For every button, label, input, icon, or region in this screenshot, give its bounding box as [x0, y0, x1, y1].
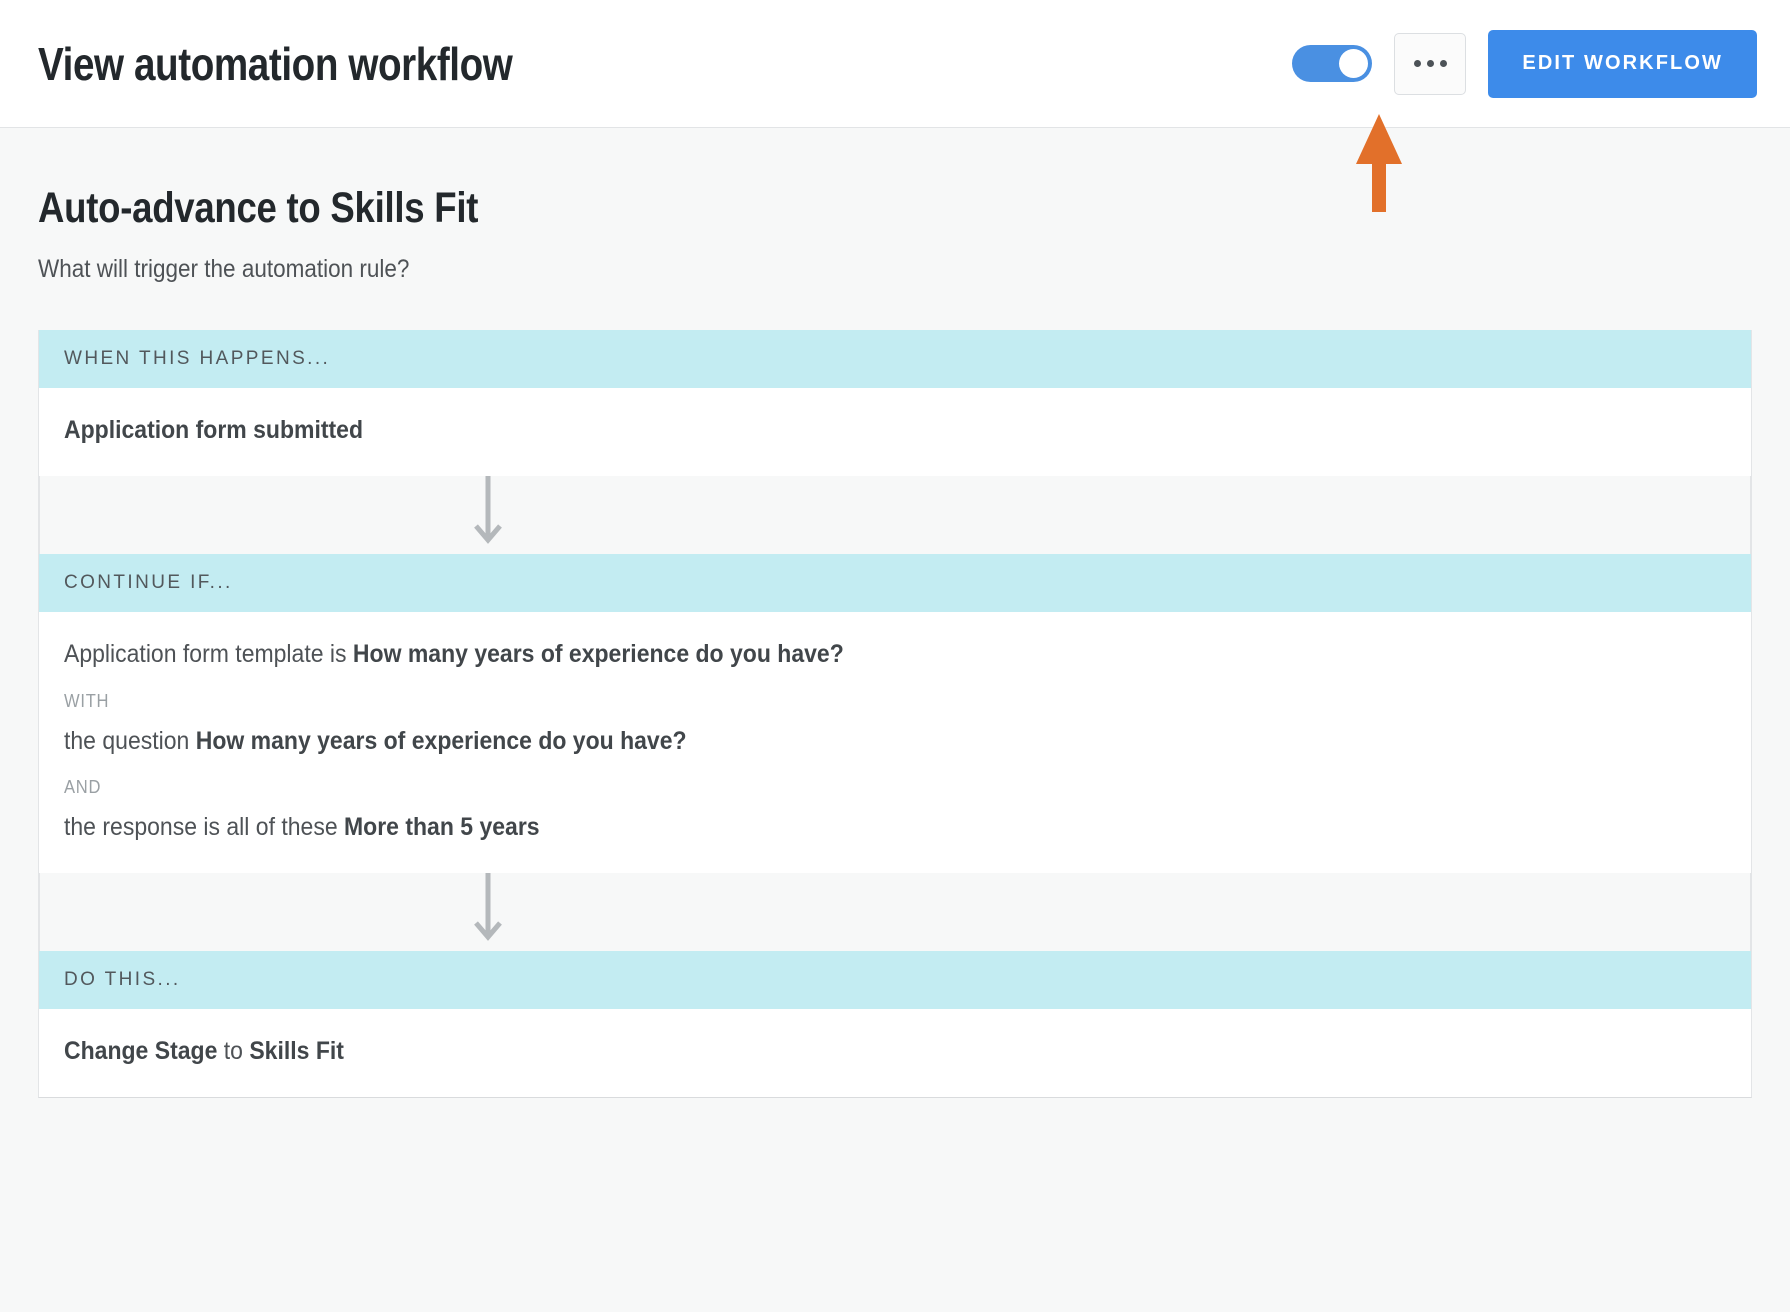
more-options-button[interactable]: [1394, 33, 1466, 95]
main-content: Auto-advance to Skills Fit What will tri…: [0, 128, 1790, 1098]
condition-row-question: the question How many years of experienc…: [64, 726, 1593, 757]
ellipsis-dot-icon: [1427, 60, 1434, 67]
section-body-continue: Application form template is How many ye…: [39, 612, 1751, 873]
condition-row-template: Application form template is How many ye…: [64, 639, 1593, 670]
flow-connector: [39, 873, 1751, 951]
condition-row-response: the response is all of these More than 5…: [64, 812, 1593, 843]
section-band-continue: CONTINUE IF...: [39, 554, 1751, 612]
action-row: Change Stage to Skills Fit: [64, 1036, 1593, 1067]
section-band-label: CONTINUE IF...: [64, 572, 233, 594]
section-band-do: DO THIS...: [39, 951, 1751, 1009]
condition-prefix: the question: [64, 727, 196, 755]
conjunction-with: WITH: [64, 691, 1593, 712]
section-body-when: Application form submitted: [39, 388, 1751, 476]
action-name: Change Stage: [64, 1037, 217, 1065]
flow-connector: [39, 476, 1751, 554]
arrow-down-icon: [473, 873, 503, 945]
condition-prefix: the response is all of these: [64, 813, 344, 841]
condition-value: How many years of experience do you have…: [353, 640, 844, 668]
workflow-card: WHEN THIS HAPPENS... Application form su…: [38, 330, 1752, 1098]
section-body-do: Change Stage to Skills Fit: [39, 1009, 1751, 1097]
condition-prefix: Application form template is: [64, 640, 353, 668]
condition-value: How many years of experience do you have…: [196, 727, 687, 755]
top-bar-actions: EDIT WORKFLOW: [1292, 30, 1757, 98]
edit-workflow-button[interactable]: EDIT WORKFLOW: [1488, 30, 1757, 98]
page-title: View automation workflow: [38, 37, 1092, 91]
trigger-row: Application form submitted: [64, 415, 1593, 446]
ellipsis-dot-icon: [1440, 60, 1447, 67]
rule-subtitle: What will trigger the automation rule?: [38, 255, 1581, 284]
workflow-enabled-toggle[interactable]: [1292, 45, 1372, 82]
toggle-knob: [1339, 49, 1368, 78]
action-joiner: to: [217, 1037, 249, 1065]
condition-value: More than 5 years: [344, 813, 540, 841]
ellipsis-dot-icon: [1414, 60, 1421, 67]
top-bar: View automation workflow EDIT WORKFLOW: [0, 0, 1790, 128]
section-band-label: DO THIS...: [64, 969, 181, 991]
rule-title: Auto-advance to Skills Fit: [38, 184, 1495, 233]
action-target: Skills Fit: [249, 1037, 344, 1065]
arrow-down-icon: [473, 476, 503, 548]
conjunction-and: AND: [64, 777, 1593, 798]
section-band-when: WHEN THIS HAPPENS...: [39, 330, 1751, 388]
section-band-label: WHEN THIS HAPPENS...: [64, 348, 330, 370]
